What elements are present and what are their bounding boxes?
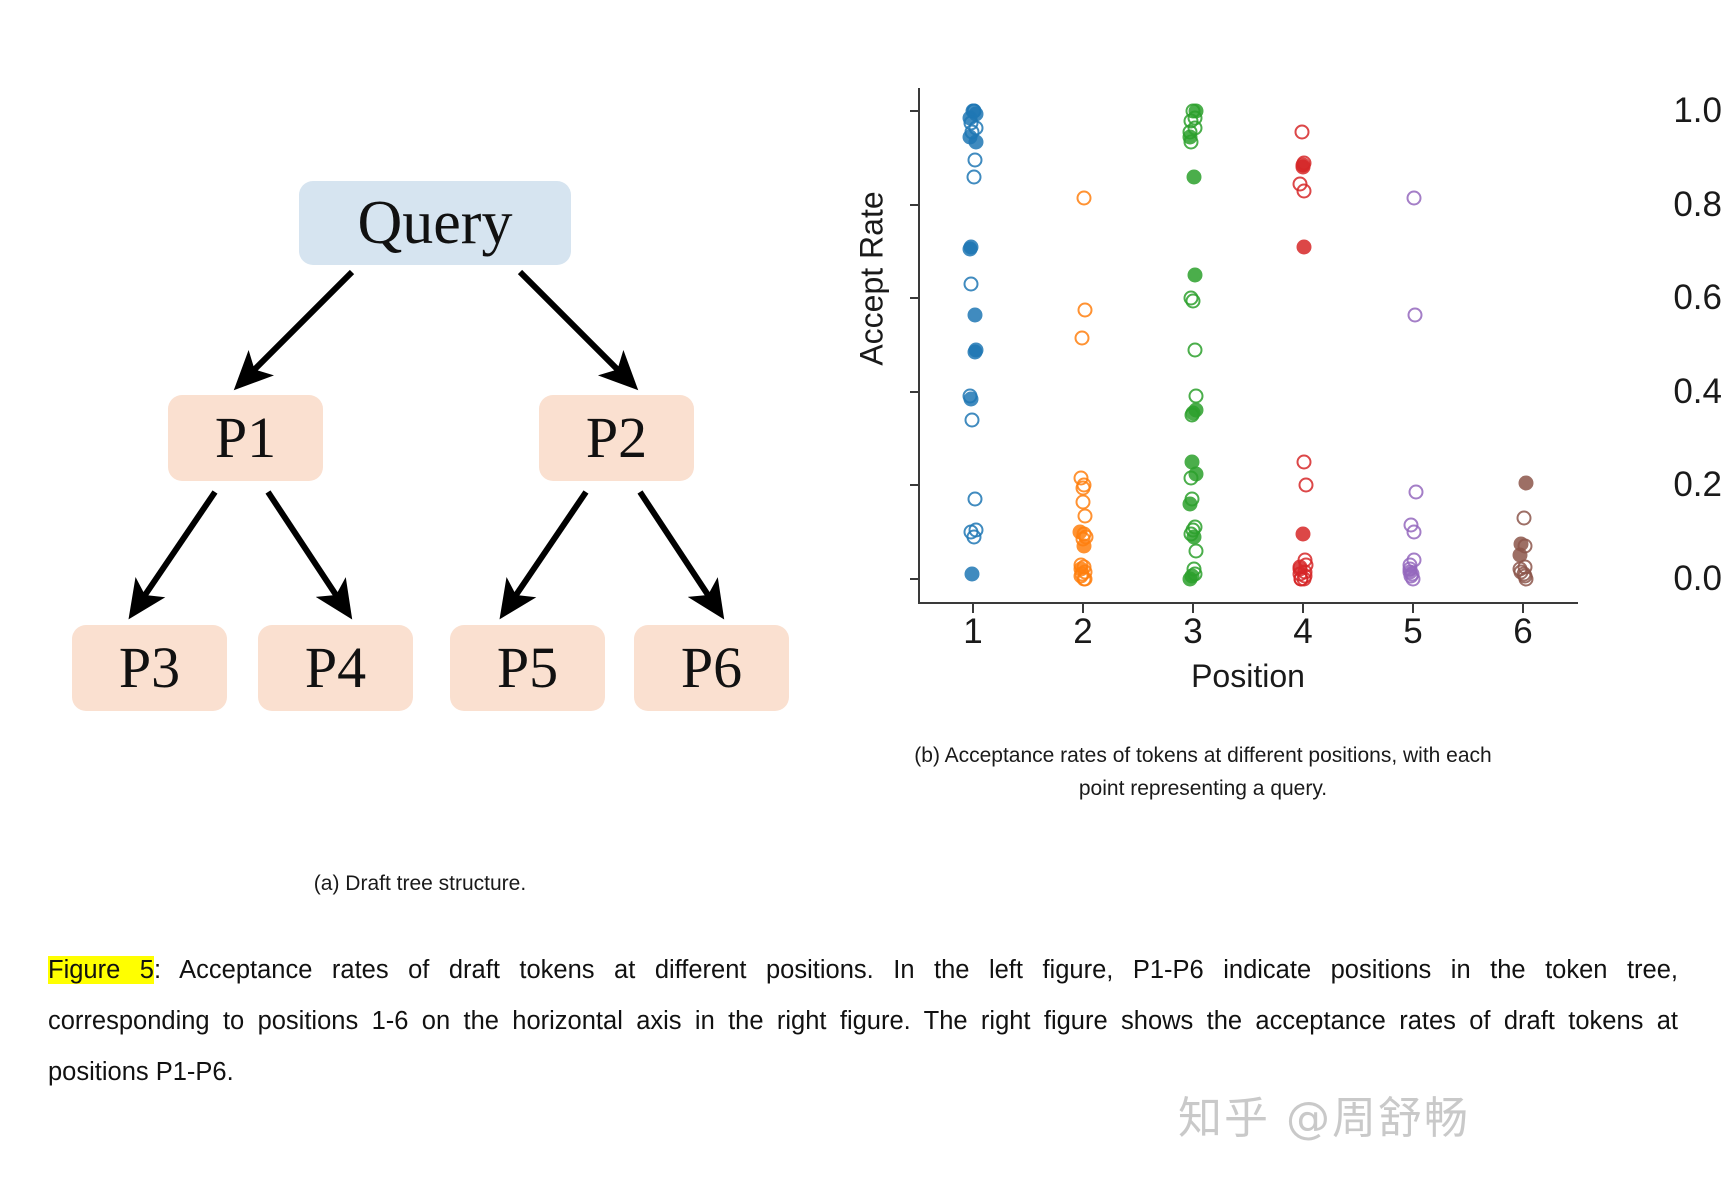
x-tick-label: 5 [1383, 612, 1443, 652]
scatter-point [968, 492, 983, 507]
figure-caption: Figure 5: Acceptance rates of draft toke… [48, 945, 1678, 1098]
scatter-point [967, 153, 982, 168]
y-tick-mark [910, 578, 919, 580]
scatter-point [1296, 239, 1311, 254]
x-tick-label: 2 [1053, 612, 1113, 652]
subfigure-caption-b-line2: point representing a query. [842, 773, 1564, 806]
scatter-point [1183, 496, 1198, 511]
scatter-point [966, 169, 981, 184]
draft-tree-figure: Query P1 P2 P3 P4 P5 P6 [0, 0, 840, 930]
scatter-point [1186, 529, 1201, 544]
x-tick-mark [1412, 604, 1414, 613]
tree-node-p5[interactable]: P5 [450, 625, 605, 711]
subfigure-caption-a: (a) Draft tree structure. [120, 868, 720, 901]
scatter-point [1186, 169, 1201, 184]
scatter-point [1518, 571, 1533, 586]
subfigure-caption-b-line1: (b) Acceptance rates of tokens at differ… [842, 740, 1564, 773]
scatter-point [962, 242, 977, 257]
x-tick-mark [1522, 604, 1524, 613]
scatter-point [1297, 183, 1312, 198]
scatter-point [1294, 125, 1309, 140]
y-tick-mark [910, 484, 919, 486]
scatter-point [1295, 527, 1310, 542]
scatter-point [1408, 307, 1423, 322]
scatter-point [1077, 508, 1092, 523]
y-tick-mark [910, 297, 919, 299]
x-tick-label: 4 [1273, 612, 1333, 652]
scatter-point [1405, 571, 1420, 586]
scatter-point [1409, 485, 1424, 500]
figure-caption-line1: Figure 5: Acceptance rates of draft toke… [48, 945, 1678, 996]
scatter-point [1184, 134, 1199, 149]
scatter-point [963, 277, 978, 292]
y-tick-mark [910, 204, 919, 206]
figure-caption-line3: positions P1-P6. [48, 1047, 1678, 1098]
scatter-point [1407, 524, 1422, 539]
scatter-point [1296, 571, 1311, 586]
y-tick-label: 0.0 [1656, 559, 1722, 599]
x-axis-label: Position [918, 658, 1578, 695]
scatter-point [964, 566, 979, 581]
x-tick-mark [1192, 604, 1194, 613]
scatter-point [967, 307, 982, 322]
x-axis-spine [918, 602, 1578, 604]
y-tick-label: 0.2 [1656, 465, 1722, 505]
scatter-point [1187, 267, 1202, 282]
scatter-point [1298, 478, 1313, 493]
figure-caption-line2: corresponding to positions 1-6 on the ho… [48, 996, 1678, 1047]
scatter-point [1183, 471, 1198, 486]
scatter-point [1076, 571, 1091, 586]
scatter-point [1188, 342, 1203, 357]
x-tick-mark [1302, 604, 1304, 613]
tree-node-query[interactable]: Query [299, 181, 571, 265]
scatter-point [968, 345, 983, 360]
scatter-point [1185, 293, 1200, 308]
tree-node-p2[interactable]: P2 [539, 395, 694, 481]
tree-node-p4[interactable]: P4 [258, 625, 413, 711]
scatter-point [1077, 302, 1092, 317]
scatter-point [1516, 510, 1531, 525]
y-tick-label: 0.6 [1656, 278, 1722, 318]
scatter-point [963, 391, 978, 406]
y-tick-label: 0.8 [1656, 185, 1722, 225]
scatter-point [1185, 408, 1200, 423]
scatter-point [1188, 543, 1203, 558]
x-tick-mark [1082, 604, 1084, 613]
scatter-point [1076, 538, 1091, 553]
scatter-point [1183, 571, 1198, 586]
scatter-point [968, 134, 983, 149]
scatter-point [1295, 160, 1310, 175]
figure-label: Figure 5 [48, 956, 154, 984]
figure-caption-line1-rest: : Acceptance rates of draft tokens at di… [154, 956, 1678, 984]
tree-node-p6[interactable]: P6 [634, 625, 789, 711]
scatter-point [1075, 330, 1090, 345]
y-tick-mark [910, 110, 919, 112]
y-axis-spine [918, 88, 920, 604]
tree-arrows [0, 0, 840, 930]
y-tick-mark [910, 391, 919, 393]
scatter-point [1519, 475, 1534, 490]
tree-node-p1[interactable]: P1 [168, 395, 323, 481]
scatter-point [1407, 190, 1422, 205]
subfigure-caption-b: (b) Acceptance rates of tokens at differ… [842, 740, 1564, 805]
scatter-point [1188, 389, 1203, 404]
scatter-point [1076, 190, 1091, 205]
scatter-point [1075, 494, 1090, 509]
x-tick-label: 3 [1163, 612, 1223, 652]
x-tick-label: 1 [943, 612, 1003, 652]
figure-row: Query P1 P2 P3 P4 P5 P6 (a) Draft tree s… [0, 0, 1722, 930]
scatter-point [966, 529, 981, 544]
y-tick-label: 0.4 [1656, 372, 1722, 412]
scatter-point [1075, 480, 1090, 495]
y-tick-label: 1.0 [1656, 91, 1722, 131]
x-tick-label: 6 [1493, 612, 1553, 652]
tree-node-p3[interactable]: P3 [72, 625, 227, 711]
scatter-point [1296, 454, 1311, 469]
scatter-point [965, 412, 980, 427]
y-axis-label: Accept Rate [854, 79, 891, 479]
x-tick-mark [972, 604, 974, 613]
